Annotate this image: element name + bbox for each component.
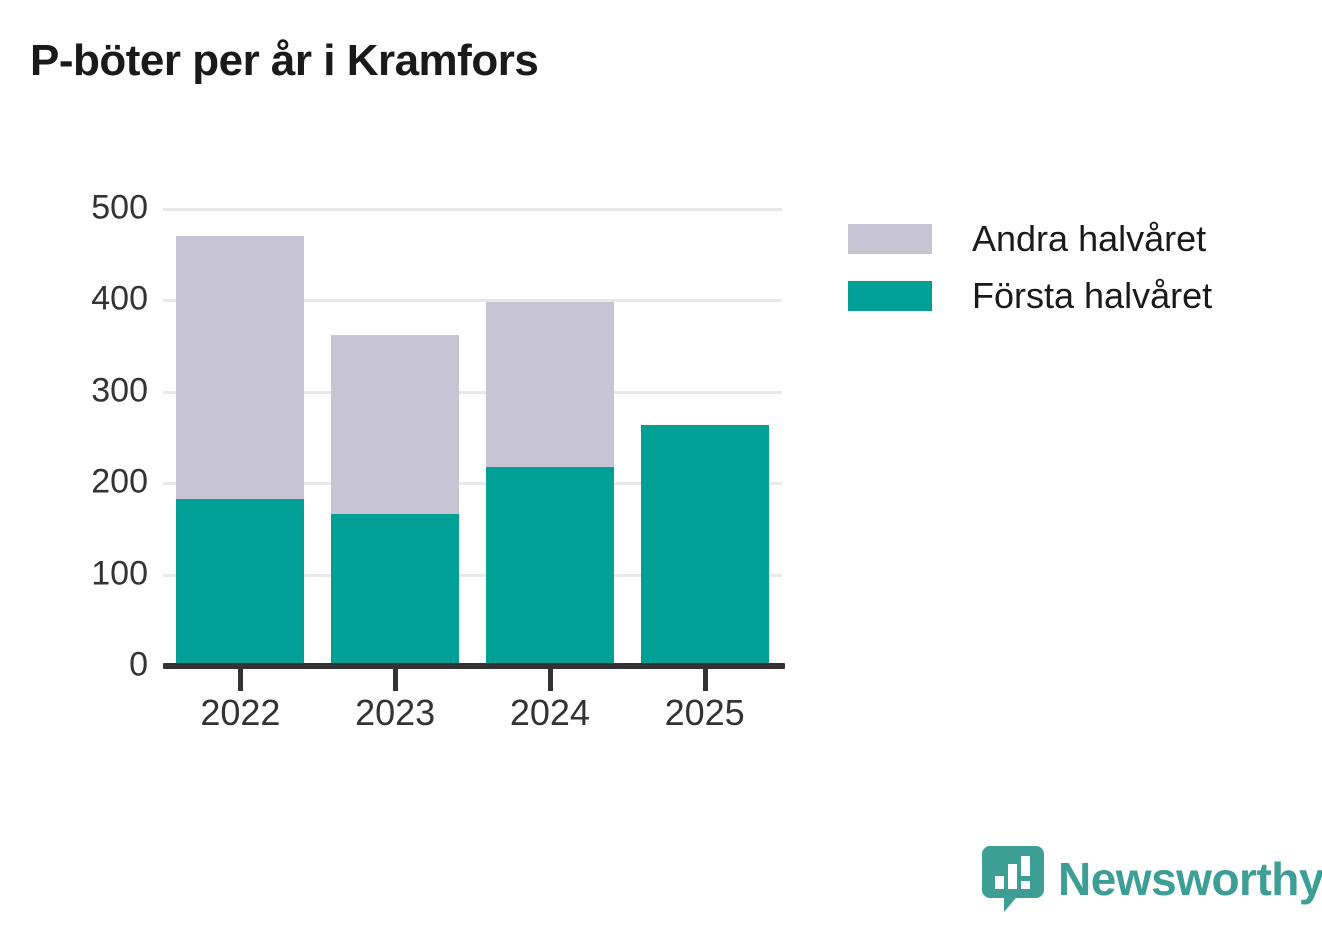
plot-area [163, 208, 782, 665]
bar-segment-second-half-2022[interactable] [176, 236, 304, 498]
legend-swatch-icon [848, 224, 932, 254]
y-tick-label-400: 400 [53, 280, 148, 319]
y-axis: 0100200300400500 [0, 0, 148, 939]
bar-group-2023[interactable] [331, 208, 459, 665]
legend-swatch-icon [848, 281, 932, 311]
bar-segment-second-half-2024[interactable] [486, 302, 614, 467]
x-tick-2023 [393, 669, 398, 691]
bar-segment-first-half-2022[interactable] [176, 499, 304, 665]
newsworthy-logo: Newsworthy [982, 846, 1322, 912]
legend-item-first-half[interactable]: Första halvåret [848, 267, 1212, 324]
bar-segment-first-half-2023[interactable] [331, 514, 459, 665]
legend: Andra halvåretFörsta halvåret [848, 210, 1212, 324]
bar-group-2024[interactable] [486, 208, 614, 665]
legend-item-second-half[interactable]: Andra halvåret [848, 210, 1212, 267]
y-tick-label-500: 500 [53, 189, 148, 228]
y-tick-label-300: 300 [53, 371, 148, 410]
y-tick-label-0: 0 [53, 646, 148, 685]
y-tick-label-200: 200 [53, 463, 148, 502]
bar-group-2025[interactable] [641, 208, 769, 665]
bar-group-2022[interactable] [176, 208, 304, 665]
x-tick-label-2025: 2025 [620, 692, 790, 734]
x-tick-2022 [238, 669, 243, 691]
bar-segment-second-half-2023[interactable] [331, 335, 459, 514]
newsworthy-wordmark: Newsworthy [1058, 852, 1322, 906]
x-axis-line [163, 663, 785, 669]
legend-label: Andra halvåret [972, 218, 1206, 260]
bar-segment-first-half-2024[interactable] [486, 467, 614, 665]
legend-label: Första halvåret [972, 275, 1212, 317]
x-tick-2024 [548, 669, 553, 691]
bar-segment-first-half-2025[interactable] [641, 425, 769, 665]
chart-bubble-icon [982, 846, 1044, 912]
x-tick-label-2024: 2024 [465, 692, 635, 734]
x-tick-label-2022: 2022 [155, 692, 325, 734]
x-tick-label-2023: 2023 [310, 692, 480, 734]
y-tick-label-100: 100 [53, 554, 148, 593]
x-tick-2025 [703, 669, 708, 691]
